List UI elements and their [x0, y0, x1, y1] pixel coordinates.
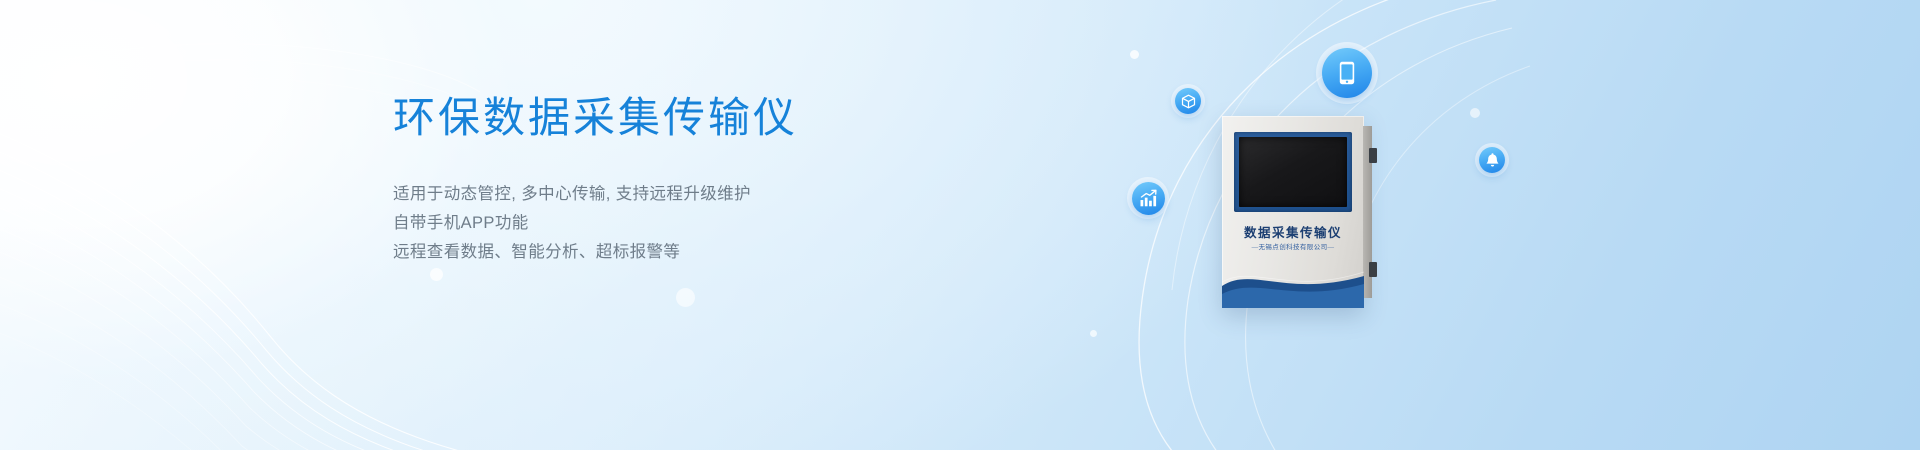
device-screen-bezel [1234, 132, 1352, 212]
device-company: —无锡点创科技有限公司— [1222, 241, 1364, 251]
decorative-bubble [430, 268, 443, 281]
data-acquisition-device: 数据采集传输仪 —无锡点创科技有限公司— [1222, 116, 1364, 308]
bell-icon [1479, 147, 1505, 173]
banner-subline-3: 远程查看数据、智能分析、超标报警等 [393, 238, 1013, 267]
decorative-bubble [1090, 330, 1097, 337]
phone-icon [1322, 48, 1372, 98]
decorative-bubble [676, 288, 695, 307]
decorative-bubble [1470, 108, 1480, 118]
device-screen [1239, 137, 1347, 207]
node-phone[interactable] [1316, 42, 1378, 104]
device-connector-bottom [1369, 262, 1377, 277]
decorative-bubble [1130, 50, 1139, 59]
node-cube[interactable] [1171, 84, 1205, 118]
device-connector-top [1369, 148, 1377, 163]
device-label: 数据采集传输仪 [1222, 222, 1364, 241]
cube-icon [1175, 88, 1201, 114]
banner-copy: 环保数据采集传输仪 适用于动态管控, 多中心传输, 支持远程升级维护 自带手机A… [393, 94, 1013, 267]
node-bell[interactable] [1475, 143, 1509, 177]
chart-icon [1132, 182, 1165, 215]
node-chart[interactable] [1127, 177, 1169, 219]
banner-headline: 环保数据采集传输仪 [393, 94, 1013, 143]
banner-subline-list: 适用于动态管控, 多中心传输, 支持远程升级维护 自带手机APP功能 远程查看数… [393, 180, 1013, 267]
hero-banner: 环保数据采集传输仪 适用于动态管控, 多中心传输, 支持远程升级维护 自带手机A… [0, 0, 1920, 450]
device-wave-graphic [1222, 256, 1364, 308]
banner-subline-1: 适用于动态管控, 多中心传输, 支持远程升级维护 [393, 180, 1013, 209]
banner-subline-2: 自带手机APP功能 [393, 209, 1013, 238]
